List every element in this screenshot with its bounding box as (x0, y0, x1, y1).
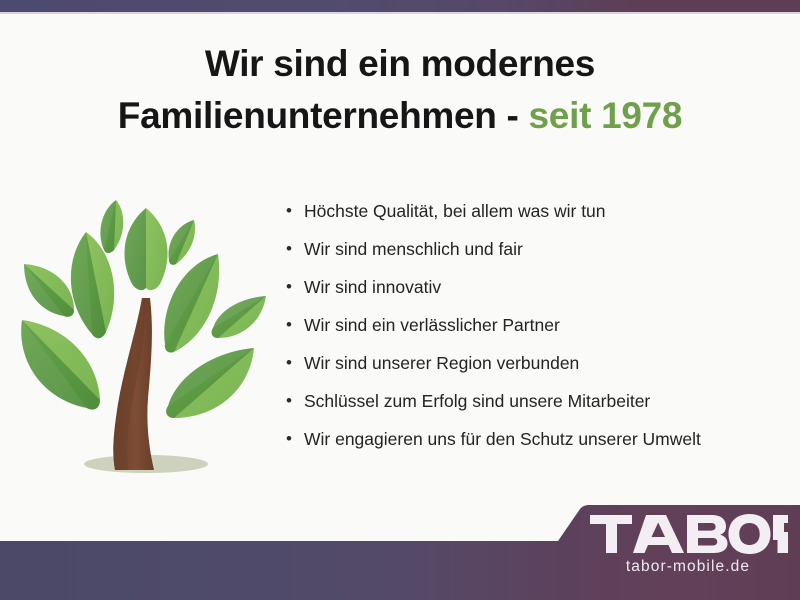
bullet-icon: • (286, 420, 304, 458)
list-item: • Höchste Qualität, bei allem was wir tu… (286, 192, 786, 230)
top-accent-strip (0, 0, 800, 12)
list-item-label: Wir engagieren uns für den Schutz unsere… (304, 420, 701, 458)
leaf-right-lower (166, 348, 254, 418)
bullet-icon: • (286, 382, 304, 420)
tree-svg (18, 192, 272, 492)
list-item: • Wir sind unserer Region verbunden (286, 344, 786, 382)
list-item: • Wir engagieren uns für den Schutz unse… (286, 420, 786, 458)
headline-line-2: Familienunternehmen - seit 1978 (0, 90, 800, 142)
list-item-label: Wir sind unserer Region verbunden (304, 344, 579, 382)
headline-line-2-accent: seit 1978 (529, 95, 683, 136)
tabor-wordmark-icon (588, 512, 788, 556)
slide-canvas: Wir sind ein modernes Familienunternehme… (0, 0, 800, 600)
top-strip-hairline (0, 12, 800, 14)
footer-logo: tabor-mobile.de (588, 512, 788, 576)
bullet-icon: • (286, 230, 304, 268)
page-title: Wir sind ein modernes Familienunternehme… (0, 38, 800, 142)
leaf-upper-right-small (169, 220, 195, 265)
list-item: • Wir sind menschlich und fair (286, 230, 786, 268)
footer-url: tabor-mobile.de (588, 558, 788, 576)
list-item-label: Wir sind innovativ (304, 268, 441, 306)
leaf-upper-left-small (100, 200, 123, 253)
bullet-icon: • (286, 192, 304, 230)
list-item: • Wir sind ein verlässlicher Partner (286, 306, 786, 344)
list-item-label: Wir sind ein verlässlicher Partner (304, 306, 560, 344)
list-item: • Wir sind innovativ (286, 268, 786, 306)
value-proposition-list: • Höchste Qualität, bei allem was wir tu… (286, 192, 786, 458)
bullet-icon: • (286, 306, 304, 344)
tree-illustration (18, 192, 272, 492)
leaf-top-center (124, 208, 167, 290)
list-item: • Schlüssel zum Erfolg sind unsere Mitar… (286, 382, 786, 420)
list-item-label: Höchste Qualität, bei allem was wir tun (304, 192, 606, 230)
bullet-icon: • (286, 344, 304, 382)
list-item-label: Wir sind menschlich und fair (304, 230, 523, 268)
leaf-left-lower (21, 320, 100, 410)
headline-line-2-plain: Familienunternehmen - (118, 95, 529, 136)
leaf-right-upper (164, 254, 219, 353)
list-item-label: Schlüssel zum Erfolg sind unsere Mitarbe… (304, 382, 650, 420)
bullet-icon: • (286, 268, 304, 306)
leaf-far-right (212, 296, 266, 338)
leaf-far-left (24, 264, 74, 317)
headline-line-1: Wir sind ein modernes (0, 38, 800, 90)
